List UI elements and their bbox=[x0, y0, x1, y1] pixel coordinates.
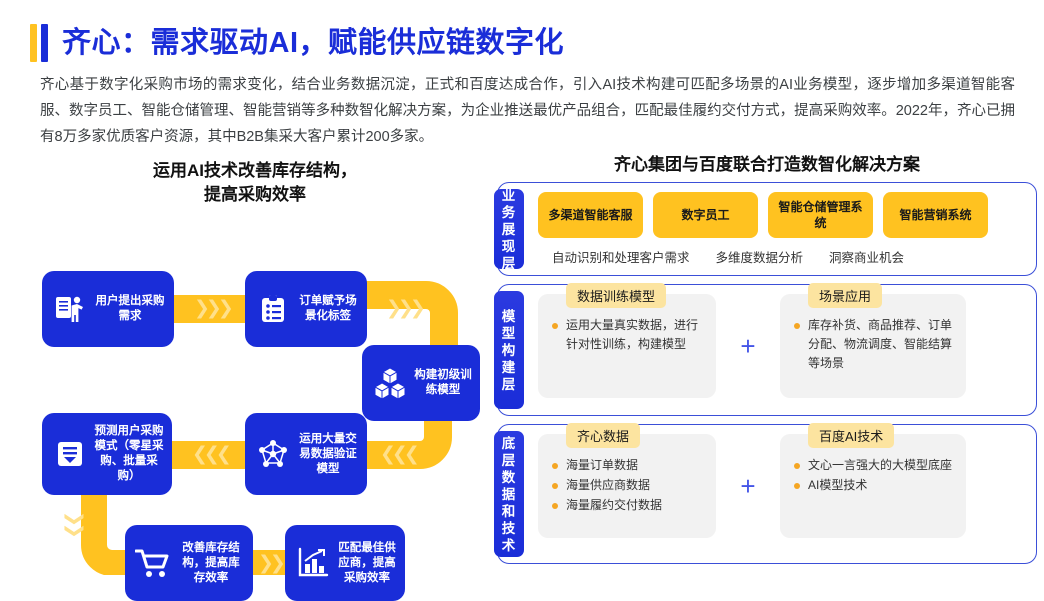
pill-warehouse-system[interactable]: 智能仓储管理系统 bbox=[768, 192, 873, 238]
data-tech-card-row: 齐心数据 海量订单数据 海量供应商数据 海量履约交付数据 + 百度AI技术 文心… bbox=[538, 434, 1026, 538]
right-solution-panel: 齐心集团与百度联合打造数智化解决方案 业务展现层 多渠道智能客服 数字员工 智能… bbox=[497, 150, 1037, 572]
flow-node-label: 运用大量交易数据验证模型 bbox=[297, 432, 359, 477]
flow-node-validate-model[interactable]: 运用大量交易数据验证模型 bbox=[245, 413, 367, 495]
page-title: 齐心：需求驱动AI，赋能供应链数字化 bbox=[62, 24, 564, 62]
list-item: 海量供应商数据 bbox=[550, 476, 704, 495]
card-list: 海量订单数据 海量供应商数据 海量履约交付数据 bbox=[550, 456, 704, 515]
flow-node-label: 用户提出采购需求 bbox=[94, 294, 166, 324]
slide-root: 齐心：需求驱动AI，赋能供应链数字化 齐心基于数字化采购市场的需求变化，结合业务… bbox=[0, 0, 1044, 601]
pill-digital-employee[interactable]: 数字员工 bbox=[653, 192, 758, 238]
chevron-right-icon-3: ❯❯ bbox=[258, 554, 282, 573]
layer-label-business: 业务展现层 bbox=[494, 189, 524, 269]
card-list: 库存补货、商品推荐、订单分配、物流调度、智能结算等场景 bbox=[792, 316, 954, 373]
layer-body-model: 数据训练模型 运用大量真实数据，进行针对性训练，构建模型 + 场景应用 库存补货… bbox=[534, 285, 1036, 415]
list-item: AI模型技术 bbox=[792, 476, 954, 495]
user-document-icon bbox=[50, 289, 90, 329]
bar-chart-icon bbox=[293, 543, 333, 583]
layer-label-data-tech: 底层数据和技术 bbox=[494, 431, 524, 557]
chevron-right-icon-1: ❯❯❯ bbox=[194, 299, 230, 318]
right-diagram-title: 齐心集团与百度联合打造数智化解决方案 bbox=[497, 150, 1037, 175]
list-item: 运用大量真实数据，进行针对性训练，构建模型 bbox=[550, 316, 704, 354]
flow-node-best-supplier[interactable]: 匹配最佳供应商，提高采购效率 bbox=[285, 525, 405, 601]
card-badge-qixin-data: 齐心数据 bbox=[566, 423, 640, 448]
chevron-down-icon-1: ❯❯ bbox=[65, 511, 84, 535]
intro-paragraph: 齐心基于数字化采购市场的需求变化，结合业务数据沉淀，正式和百度达成合作，引入AI… bbox=[40, 72, 1015, 150]
list-item: 海量履约交付数据 bbox=[550, 496, 704, 515]
model-card-row: 数据训练模型 运用大量真实数据，进行针对性训练，构建模型 + 场景应用 库存补货… bbox=[538, 294, 1026, 398]
flow-node-label: 构建初级训练模型 bbox=[414, 368, 472, 398]
left-diagram-title-line1: 运用AI技术改善库存结构， bbox=[20, 159, 490, 183]
flow-node-label: 匹配最佳供应商，提高采购效率 bbox=[337, 541, 397, 586]
cubes-icon bbox=[370, 363, 410, 403]
business-pill-row: 多渠道智能客服 数字员工 智能仓储管理系统 智能营销系统 bbox=[538, 192, 1026, 238]
flow-node-user-request[interactable]: 用户提出采购需求 bbox=[42, 271, 174, 347]
business-subtext-3: 洞察商业机会 bbox=[829, 247, 904, 266]
plus-icon-data-tech: + bbox=[716, 434, 780, 538]
layer-model: 模型构建层 数据训练模型 运用大量真实数据，进行针对性训练，构建模型 + 场景应… bbox=[497, 284, 1037, 416]
page-title-row: 齐心：需求驱动AI，赋能供应链数字化 bbox=[30, 22, 564, 64]
flow-node-order-tagging[interactable]: 订单赋予场景化标签 bbox=[245, 271, 367, 347]
business-subtext-1: 自动识别和处理客户需求 bbox=[552, 247, 690, 266]
chevron-left-icon-2: ❮❮❮ bbox=[192, 445, 228, 464]
card-scenario-application[interactable]: 场景应用 库存补货、商品推荐、订单分配、物流调度、智能结算等场景 bbox=[780, 294, 966, 398]
list-item: 海量订单数据 bbox=[550, 456, 704, 475]
pill-marketing-system[interactable]: 智能营销系统 bbox=[883, 192, 988, 238]
left-diagram-title: 运用AI技术改善库存结构， 提高采购效率 bbox=[20, 159, 490, 207]
clipboard-list-icon bbox=[253, 289, 293, 329]
list-item: 文心一言强大的大模型底座 bbox=[792, 456, 954, 475]
pill-multichannel-service[interactable]: 多渠道智能客服 bbox=[538, 192, 643, 238]
chevron-left-icon-1: ❮❮❮ bbox=[380, 445, 416, 464]
card-qixin-data[interactable]: 齐心数据 海量订单数据 海量供应商数据 海量履约交付数据 bbox=[538, 434, 716, 538]
layer-data-tech: 底层数据和技术 齐心数据 海量订单数据 海量供应商数据 海量履约交付数据 + 百… bbox=[497, 424, 1037, 564]
list-item: 库存补货、商品推荐、订单分配、物流调度、智能结算等场景 bbox=[792, 316, 954, 373]
flow-node-build-model[interactable]: 构建初级训练模型 bbox=[362, 345, 480, 421]
flow-node-label: 预测用户采购模式（零星采购、批量采购） bbox=[94, 424, 164, 484]
left-diagram-title-line2: 提高采购效率 bbox=[20, 183, 490, 207]
left-flow-panel: 运用AI技术改善库存结构， 提高采购效率 ❯❯❯ ❯❯❯ bbox=[20, 155, 490, 575]
chevron-right-icon-2: ❯❯❯ bbox=[386, 299, 422, 318]
card-badge-baidu-ai: 百度AI技术 bbox=[808, 423, 894, 448]
business-subtext-row: 自动识别和处理客户需求 多维度数据分析 洞察商业机会 bbox=[538, 247, 1026, 266]
flow-node-label: 改善库存结构，提高库存效率 bbox=[177, 541, 245, 586]
layer-label-model: 模型构建层 bbox=[494, 291, 524, 409]
card-baidu-ai-tech[interactable]: 百度AI技术 文心一言强大的大模型底座 AI模型技术 bbox=[780, 434, 966, 538]
card-list: 运用大量真实数据，进行针对性训练，构建模型 bbox=[550, 316, 704, 354]
title-accent-bar-blue bbox=[41, 24, 48, 62]
flow-node-label: 订单赋予场景化标签 bbox=[297, 294, 359, 324]
card-list: 文心一言强大的大模型底座 AI模型技术 bbox=[792, 456, 954, 495]
flow-node-predict-pattern[interactable]: 预测用户采购模式（零星采购、批量采购） bbox=[42, 413, 172, 495]
flow-node-improve-inventory[interactable]: 改善库存结构，提高库存效率 bbox=[125, 525, 253, 601]
business-subtext-2: 多维度数据分析 bbox=[716, 247, 804, 266]
plus-icon-model: + bbox=[716, 294, 780, 398]
layer-body-data-tech: 齐心数据 海量订单数据 海量供应商数据 海量履约交付数据 + 百度AI技术 文心… bbox=[534, 425, 1036, 563]
network-graph-icon bbox=[253, 434, 293, 474]
card-data-training-model[interactable]: 数据训练模型 运用大量真实数据，进行针对性训练，构建模型 bbox=[538, 294, 716, 398]
shopping-cart-icon bbox=[133, 543, 173, 583]
card-badge-data-training: 数据训练模型 bbox=[566, 283, 666, 308]
inbox-icon bbox=[50, 434, 90, 474]
title-accent-bar-yellow bbox=[30, 24, 37, 62]
layer-body-business: 多渠道智能客服 数字员工 智能仓储管理系统 智能营销系统 自动识别和处理客户需求… bbox=[534, 183, 1036, 275]
layer-business: 业务展现层 多渠道智能客服 数字员工 智能仓储管理系统 智能营销系统 自动识别和… bbox=[497, 182, 1037, 276]
flow-canvas: ❯❯❯ ❯❯❯ ❮❮❮ ❮❮❮ ❯❯ ❯❯ 用户提出采购需 bbox=[20, 215, 490, 575]
card-badge-scenario: 场景应用 bbox=[808, 283, 882, 308]
